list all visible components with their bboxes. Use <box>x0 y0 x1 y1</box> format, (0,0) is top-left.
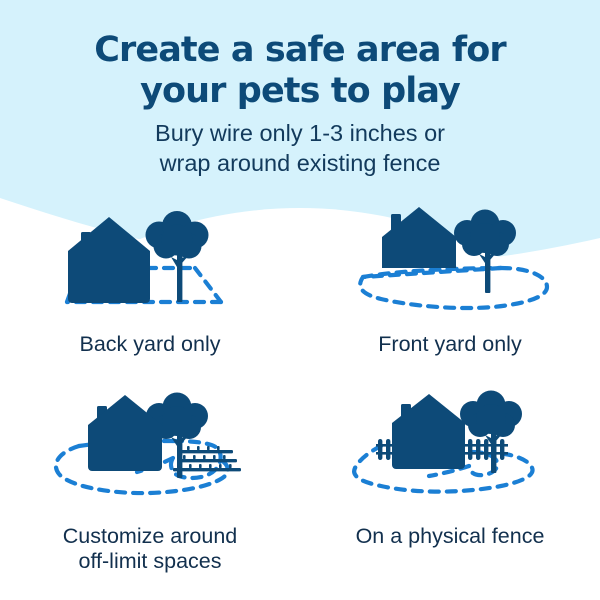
house-icon <box>392 394 465 469</box>
subhead-line-2: wrap around existing fence <box>0 148 600 178</box>
house-icon <box>68 217 150 303</box>
caption-line-1: Back yard only <box>79 332 220 357</box>
customize-off-limit-spaces-icon <box>25 390 275 522</box>
feature-caption: Front yard only <box>378 332 521 357</box>
infographic-panel: Create a safe area for your pets to play… <box>0 0 600 600</box>
caption-line-1: Front yard only <box>378 332 521 357</box>
caption-line-1: Customize around <box>63 524 237 549</box>
off-limit-garden-bed-icon <box>173 446 241 471</box>
caption-line-2: off-limit spaces <box>63 549 237 574</box>
front-yard-only-icon <box>325 205 575 330</box>
feature-caption: Back yard only <box>79 332 220 357</box>
caption-line-1: On a physical fence <box>356 524 545 549</box>
tree-icon <box>454 210 516 294</box>
page-title: Create a safe area for your pets to play <box>0 0 600 112</box>
feature-item-on-a-physical-fence: On a physical fence <box>300 390 600 580</box>
picket-fence-right-icon <box>458 439 508 460</box>
feature-caption: Customize around off-limit spaces <box>63 524 237 575</box>
house-icon <box>382 207 456 268</box>
tree-icon <box>146 211 209 302</box>
page-subtitle: Bury wire only 1-3 inches or wrap around… <box>0 118 600 178</box>
subhead-line-1: Bury wire only 1-3 inches or <box>0 118 600 148</box>
feature-grid: Back yard only <box>0 205 600 600</box>
headline-line-1: Create a safe area for <box>0 30 600 71</box>
headline-line-2: your pets to play <box>0 71 600 112</box>
on-a-physical-fence-icon <box>325 390 575 522</box>
header-text-block: Create a safe area for your pets to play… <box>0 0 600 178</box>
feature-item-customize-off-limit-spaces: Customize around off-limit spaces <box>0 390 300 580</box>
feature-caption: On a physical fence <box>356 524 545 549</box>
back-yard-only-icon <box>25 205 275 330</box>
boundary-wire-dashed <box>360 268 547 308</box>
feature-item-front-yard-only: Front yard only <box>300 205 600 390</box>
tree-icon <box>460 391 522 474</box>
feature-item-back-yard-only: Back yard only <box>0 205 300 390</box>
